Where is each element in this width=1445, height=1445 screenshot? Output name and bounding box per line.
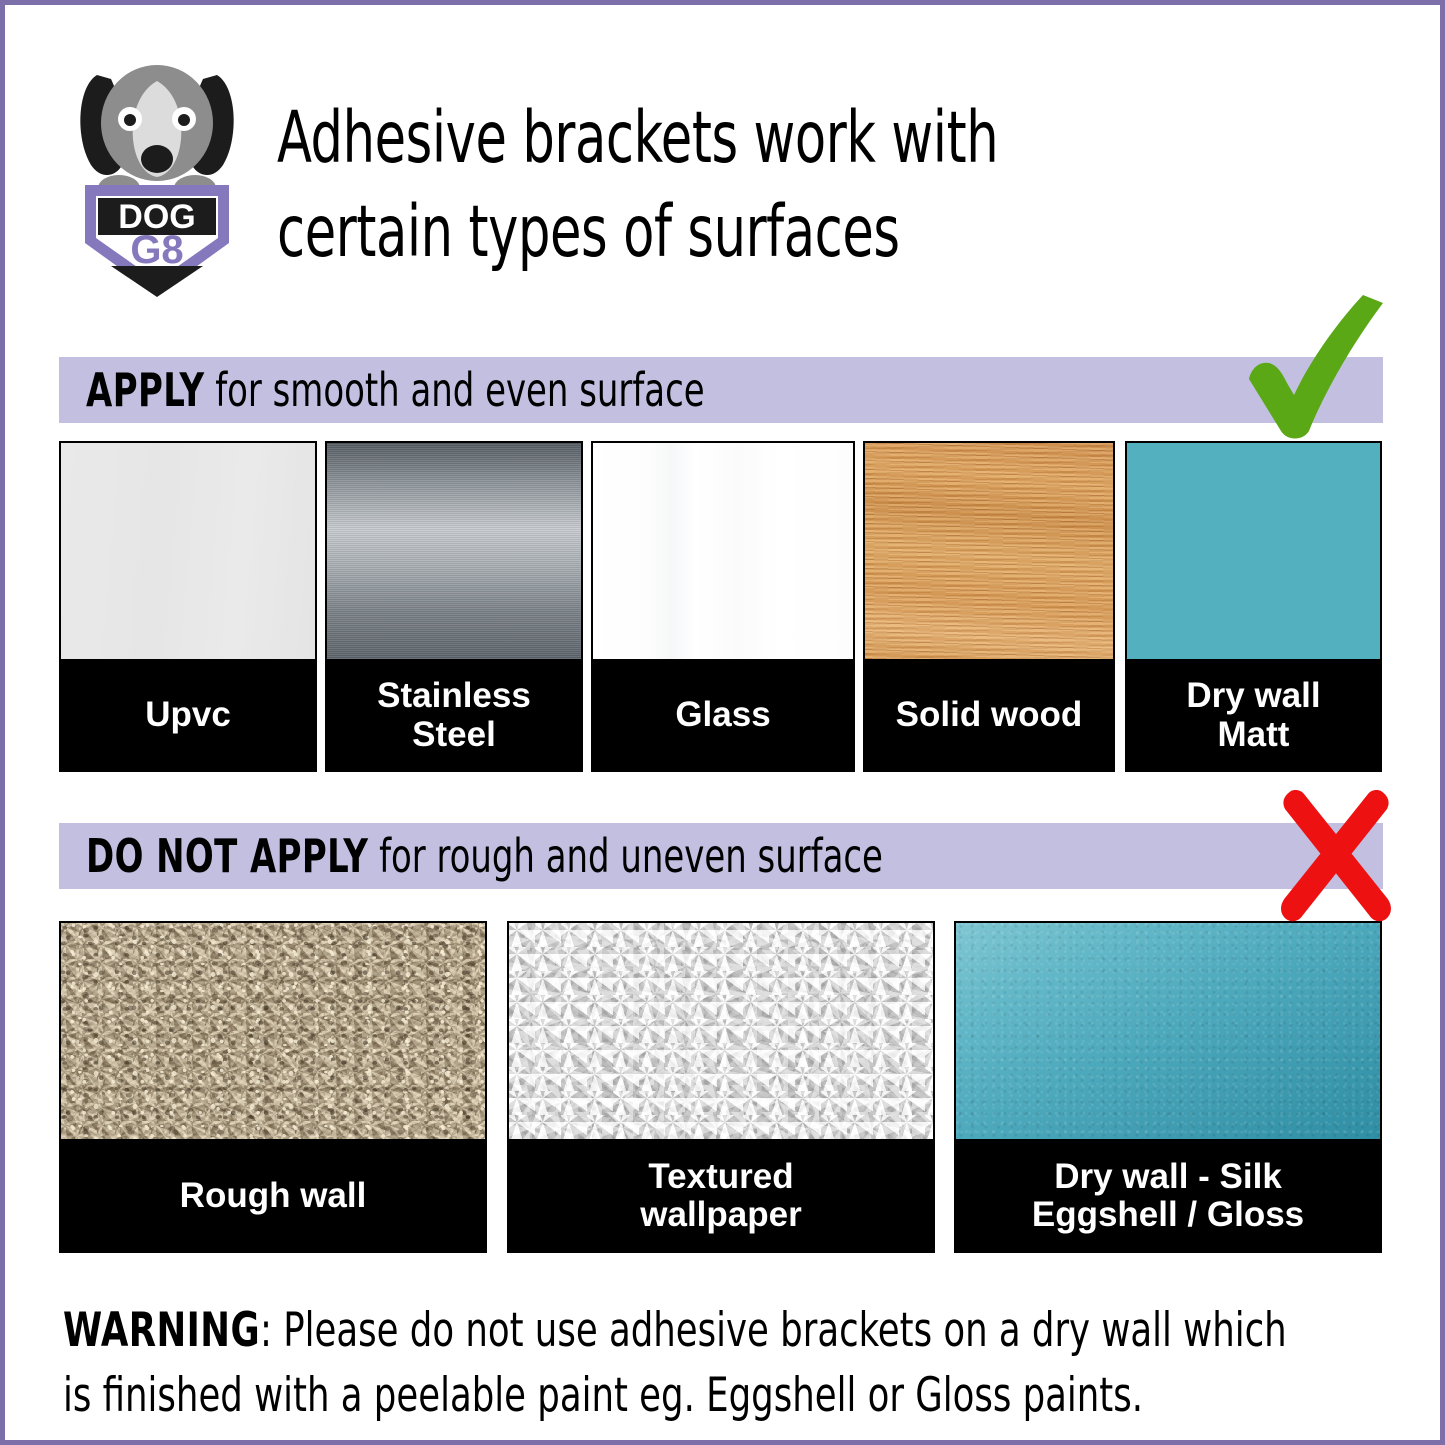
solid-wood-swatch: [865, 443, 1113, 659]
logo-g8-text: G8: [130, 228, 183, 272]
surface-tile: Stainless Steel: [325, 441, 583, 772]
tile-caption: Dry wall - Silk Eggshell / Gloss: [956, 1139, 1380, 1253]
tile-label-line-1: Rough wall: [180, 1177, 367, 1216]
tile-label-line-1: Dry wall - Silk: [1054, 1158, 1282, 1197]
headline-line-1: Adhesive brackets work with: [277, 91, 1085, 185]
tile-label-line-2: wallpaper: [640, 1196, 801, 1235]
dry-wall-matt-swatch: [1127, 443, 1380, 659]
apply-banner-rest: for smooth and even surface: [204, 363, 704, 417]
tile-caption: Glass: [593, 659, 853, 772]
stainless-steel-swatch: [327, 443, 581, 659]
surface-tile: Dry wall Matt: [1125, 441, 1382, 772]
red-cross-icon: [1277, 789, 1395, 924]
apply-banner: APPLY for smooth and even surface: [59, 357, 1383, 423]
dry-wall-silk-swatch: [956, 923, 1380, 1139]
do-not-apply-banner: DO NOT APPLY for rough and uneven surfac…: [59, 823, 1383, 889]
surface-tile: Dry wall - Silk Eggshell / Gloss: [954, 921, 1382, 1253]
tile-label-line-1: Solid wood: [896, 696, 1083, 735]
apply-banner-text: APPLY for smooth and even surface: [59, 363, 705, 417]
warning-line-1: WARNING: Please do not use adhesive brac…: [63, 1299, 1180, 1364]
tile-label-line-1: Upvc: [145, 696, 231, 735]
tile-caption: Stainless Steel: [327, 659, 581, 772]
tile-caption: Rough wall: [61, 1139, 485, 1253]
do-not-apply-banner-text: DO NOT APPLY for rough and uneven surfac…: [59, 829, 883, 883]
header: DOG G8 Adhesive brackets work with certa…: [5, 5, 1440, 305]
page-title: Adhesive brackets work with certain type…: [277, 91, 1085, 280]
tile-caption: Upvc: [61, 659, 315, 772]
glass-swatch: [593, 443, 853, 659]
rough-wall-swatch: [61, 923, 485, 1139]
dog-g8-logo: DOG G8: [67, 47, 247, 297]
tile-caption: Dry wall Matt: [1127, 659, 1380, 772]
do-not-apply-banner-strong: DO NOT APPLY: [86, 829, 368, 883]
surface-tile: Rough wall: [59, 921, 487, 1253]
surface-tile: Glass: [591, 441, 855, 772]
surface-tile: Textured wallpaper: [507, 921, 935, 1253]
tile-label-line-2: Eggshell / Gloss: [1032, 1196, 1304, 1235]
warning-text: WARNING: Please do not use adhesive brac…: [63, 1299, 1180, 1429]
apply-banner-strong: APPLY: [86, 363, 204, 417]
warning-line-1-rest: : Please do not use adhesive brackets on…: [260, 1303, 1287, 1358]
tile-caption: Solid wood: [865, 659, 1113, 772]
surface-tile: Upvc: [59, 441, 317, 772]
green-check-icon: [1237, 291, 1387, 441]
surface-tile: Solid wood: [863, 441, 1115, 772]
tile-label-line-1: Glass: [675, 696, 770, 735]
upvc-swatch: [61, 443, 315, 659]
do-not-apply-banner-rest: for rough and uneven surface: [368, 829, 883, 883]
textured-wallpaper-swatch: [509, 923, 933, 1139]
tile-label-line-1: Stainless: [377, 677, 531, 716]
warning-line-2: is finished with a peelable paint eg. Eg…: [63, 1364, 1180, 1429]
infographic-poster: DOG G8 Adhesive brackets work with certa…: [0, 0, 1445, 1445]
warning-label: WARNING: [63, 1303, 260, 1358]
tile-label-line-2: Steel: [412, 716, 496, 755]
tile-caption: Textured wallpaper: [509, 1139, 933, 1253]
tile-label-line-1: Dry wall: [1186, 677, 1320, 716]
tile-label-line-1: Textured: [648, 1158, 793, 1197]
tile-label-line-2: Matt: [1218, 716, 1290, 755]
headline-line-2: certain types of surfaces: [277, 185, 1085, 279]
